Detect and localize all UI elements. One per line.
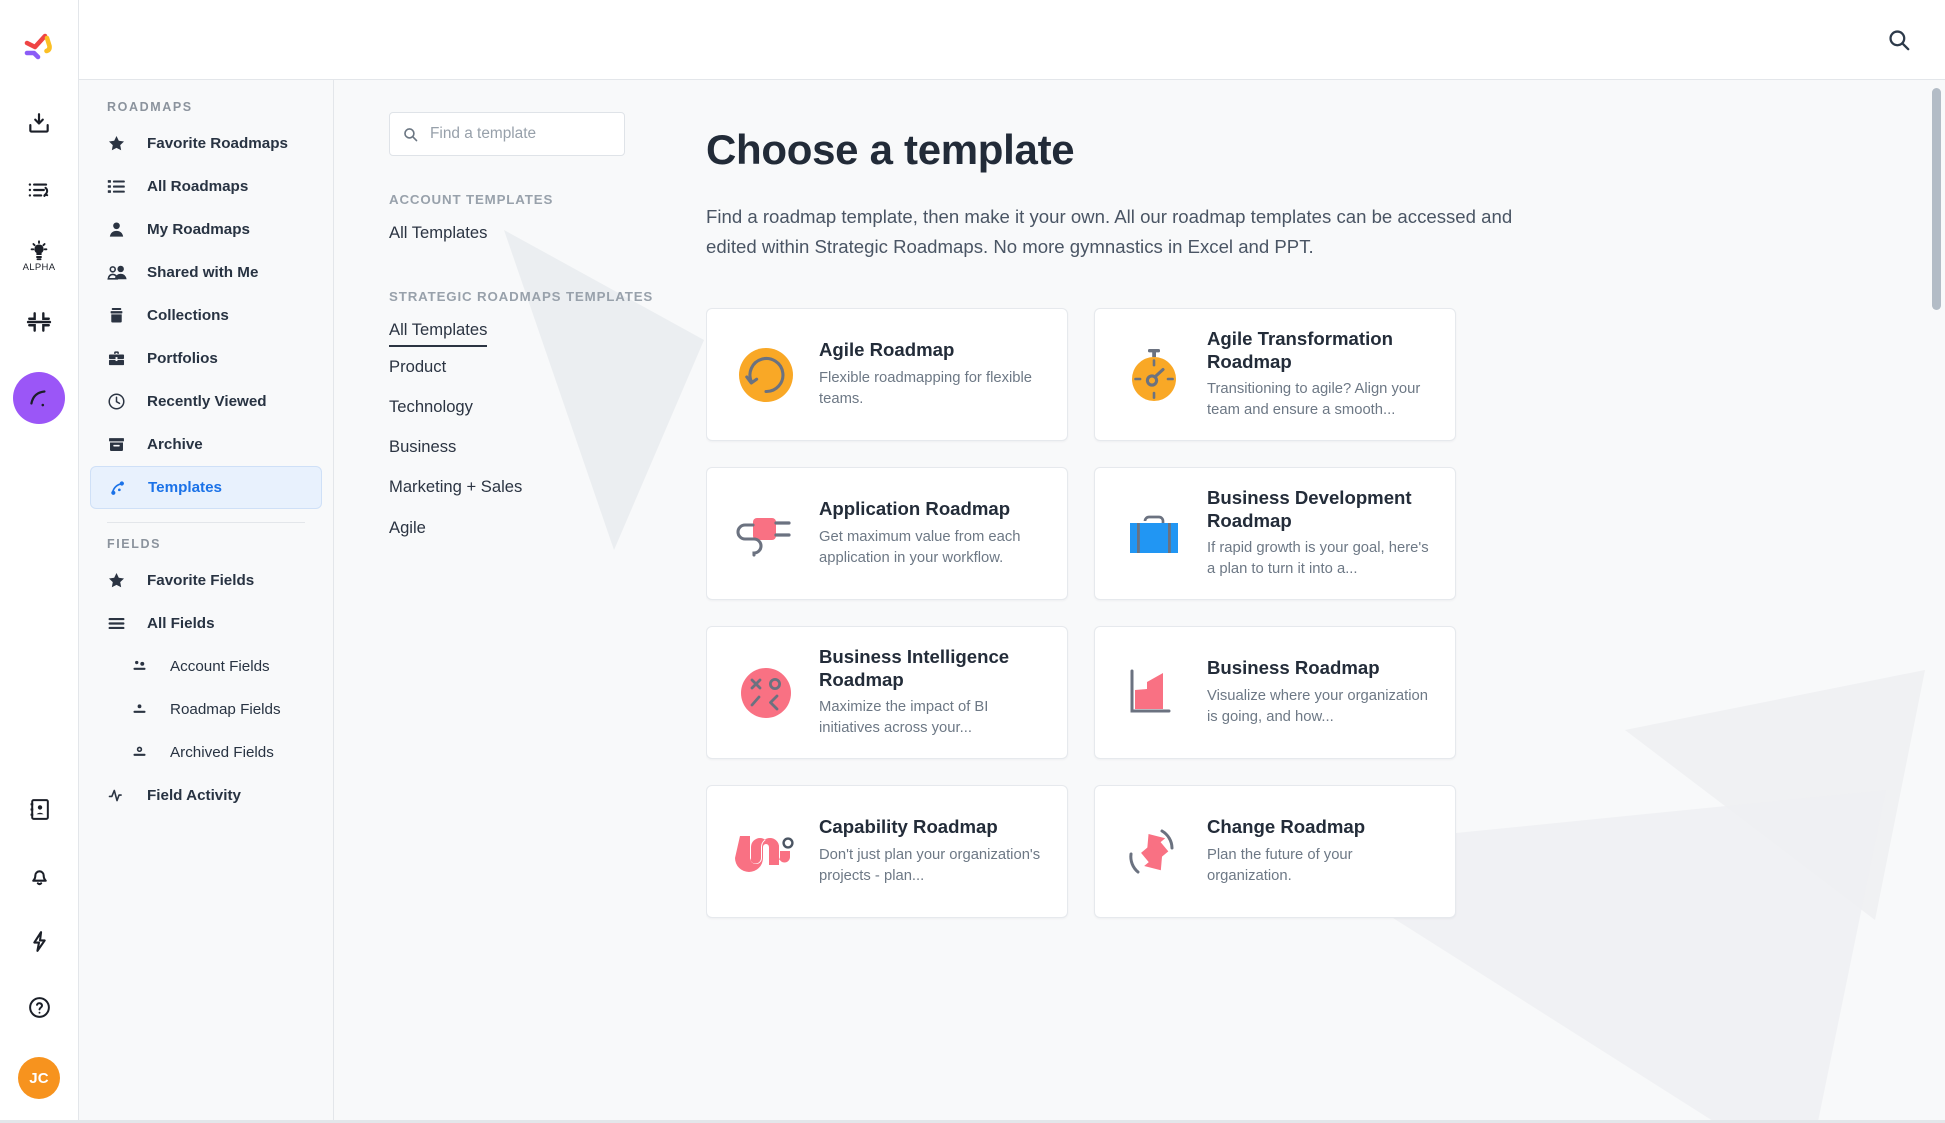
list-undo-icon[interactable] <box>11 162 67 218</box>
search-input[interactable] <box>430 125 612 143</box>
sidebar-item-label: My Roadmaps <box>147 221 250 238</box>
filter-item-business[interactable]: Business <box>389 427 456 467</box>
search-icon <box>402 126 419 143</box>
wave-capability-icon <box>723 815 809 889</box>
plug-icon <box>723 497 809 571</box>
filter-item-all-templates[interactable]: All Templates <box>389 310 487 346</box>
archived-fields-icon <box>130 743 158 762</box>
template-card-desc: Get maximum value from each application … <box>819 527 1049 569</box>
star-icon <box>107 134 135 153</box>
template-card-desc: Don't just plan your organization's proj… <box>819 845 1049 887</box>
sidebar-item-my-roadmaps[interactable]: My Roadmaps <box>90 208 322 251</box>
template-card-desc: If rapid growth is your goal, here's a p… <box>1207 538 1437 580</box>
inbox-icon[interactable] <box>11 96 67 152</box>
sidebar-nav: ROADMAPS Favorite Roadmaps All Roadmaps <box>79 80 334 1123</box>
vertical-scrollbar[interactable] <box>1932 88 1941 1119</box>
template-card-text: Business Roadmap Visualize where your or… <box>1197 657 1437 728</box>
filter-item-agile[interactable]: Agile <box>389 508 426 548</box>
sidebar-item-field-activity[interactable]: Field Activity <box>90 774 322 817</box>
filter-item-all-templates-account[interactable]: All Templates <box>389 213 487 253</box>
template-card-text: Business Intelligence Roadmap Maximize t… <box>809 646 1049 739</box>
template-card-desc: Maximize the impact of BI initiatives ac… <box>819 697 1049 739</box>
briefcase-icon <box>107 349 135 368</box>
sidebar-item-label: Roadmap Fields <box>170 701 281 718</box>
sidebar-item-templates[interactable]: Templates <box>90 466 322 509</box>
app-logo-icon[interactable] <box>17 26 61 70</box>
sidebar-item-label: Field Activity <box>147 787 241 804</box>
roadmaps-active-icon[interactable] <box>13 372 65 424</box>
template-card-text: Business Development Roadmap If rapid gr… <box>1197 487 1437 580</box>
sidebar-item-label: Portfolios <box>147 350 218 367</box>
sidebar-item-label: Shared with Me <box>147 264 258 281</box>
template-card-title: Agile Transformation Roadmap <box>1207 328 1437 373</box>
template-card[interactable]: Application Roadmap Get maximum value fr… <box>706 467 1068 600</box>
people-icon <box>107 263 135 282</box>
sidebar-item-collections[interactable]: Collections <box>90 294 322 337</box>
filter-item-product[interactable]: Product <box>389 347 446 387</box>
collapse-icon[interactable] <box>11 294 67 350</box>
template-card[interactable]: Agile Roadmap Flexible roadmapping for f… <box>706 308 1068 441</box>
template-card-title: Application Roadmap <box>819 498 1049 521</box>
template-card-text: Application Roadmap Get maximum value fr… <box>809 498 1049 569</box>
bell-icon[interactable] <box>11 847 67 903</box>
top-bar <box>79 0 1945 80</box>
app-root: ALPHA <box>0 0 1945 1123</box>
template-card-title: Business Roadmap <box>1207 657 1437 680</box>
template-card-desc: Visualize where your organization is goi… <box>1207 686 1437 728</box>
template-card[interactable]: Capability Roadmap Don't just plan your … <box>706 785 1068 918</box>
sidebar-item-shared-with-me[interactable]: Shared with Me <box>90 251 322 294</box>
sidebar-item-label: Recently Viewed <box>147 393 267 410</box>
sidebar-item-archived-fields[interactable]: Archived Fields <box>90 731 322 774</box>
filter-item-marketing-sales[interactable]: Marketing + Sales <box>389 467 522 507</box>
sidebar-group-label-fields: FIELDS <box>79 523 333 559</box>
template-card[interactable]: Business Intelligence Roadmap Maximize t… <box>706 626 1068 759</box>
archive-icon <box>107 435 135 454</box>
filter-list-account: All Templates <box>389 213 706 253</box>
sidebar-item-label: Account Fields <box>170 658 270 675</box>
sidebar-item-label: Archived Fields <box>170 744 274 761</box>
avatar[interactable]: JC <box>18 1057 60 1099</box>
filter-group-label-strategic: STRATEGIC ROADMAPS TEMPLATES <box>389 289 706 304</box>
template-card-desc: Transitioning to agile? Align your team … <box>1207 379 1437 421</box>
content-inner: Choose a template Find a roadmap templat… <box>706 126 1945 918</box>
list-icon <box>107 177 135 196</box>
template-card-title: Capability Roadmap <box>819 816 1049 839</box>
help-icon[interactable] <box>11 979 67 1035</box>
area-chart-icon <box>1111 656 1197 730</box>
filter-group-label-account: ACCOUNT TEMPLATES <box>389 192 706 207</box>
template-card-title: Business Intelligence Roadmap <box>819 646 1049 691</box>
template-card-text: Change Roadmap Plan the future of your o… <box>1197 816 1437 887</box>
content-panel: Choose a template Find a roadmap templat… <box>706 80 1945 1123</box>
page-title: Choose a template <box>706 126 1945 174</box>
sidebar-group-label-roadmaps: ROADMAPS <box>79 86 333 122</box>
scrollbar-thumb[interactable] <box>1932 88 1941 310</box>
star-icon <box>107 571 135 590</box>
filter-item-technology[interactable]: Technology <box>389 387 473 427</box>
lightbulb-icon[interactable]: ALPHA <box>11 228 67 284</box>
template-card-title: Business Development Roadmap <box>1207 487 1437 532</box>
sidebar-item-label: All Roadmaps <box>147 178 248 195</box>
briefcase-blue-icon <box>1111 497 1197 571</box>
hamburger-icon <box>107 614 135 633</box>
template-search-box[interactable] <box>389 112 625 156</box>
template-card-text: Agile Roadmap Flexible roadmapping for f… <box>809 339 1049 410</box>
sidebar-item-label: Archive <box>147 436 203 453</box>
page-description: Find a roadmap template, then make it yo… <box>706 202 1516 262</box>
template-card-text: Agile Transformation Roadmap Transitioni… <box>1197 328 1437 421</box>
person-icon <box>107 220 135 239</box>
sidebar-item-label: Favorite Fields <box>147 572 254 589</box>
sidebar-item-roadmap-fields[interactable]: Roadmap Fields <box>90 688 322 731</box>
sidebar-item-portfolios[interactable]: Portfolios <box>90 337 322 380</box>
sidebar-item-label: All Fields <box>147 615 215 632</box>
sidebar-item-label: Templates <box>148 479 222 496</box>
sidebar-item-favorite-fields[interactable]: Favorite Fields <box>90 559 322 602</box>
contacts-icon[interactable] <box>11 781 67 837</box>
alpha-tag: ALPHA <box>23 262 56 273</box>
template-card[interactable]: Business Roadmap Visualize where your or… <box>1094 626 1456 759</box>
roadmap-fields-icon <box>130 700 158 719</box>
template-card[interactable]: Business Development Roadmap If rapid gr… <box>1094 467 1456 600</box>
sidebar-item-label: Favorite Roadmaps <box>147 135 288 152</box>
search-icon[interactable] <box>1877 18 1921 62</box>
cycle-arrows-icon <box>1111 815 1197 889</box>
template-card[interactable]: Change Roadmap Plan the future of your o… <box>1094 785 1456 918</box>
account-fields-icon <box>130 657 158 676</box>
template-card-desc: Plan the future of your organization. <box>1207 845 1437 887</box>
activity-icon <box>107 786 135 805</box>
filter-list-strategic: All Templates Product Technology Busines… <box>389 310 706 548</box>
sidebar-item-account-fields[interactable]: Account Fields <box>90 645 322 688</box>
template-card-desc: Flexible roadmapping for flexible teams. <box>819 368 1049 410</box>
template-card-text: Capability Roadmap Don't just plan your … <box>809 816 1049 887</box>
template-card[interactable]: Agile Transformation Roadmap Transitioni… <box>1094 308 1456 441</box>
sidebar-item-archive[interactable]: Archive <box>90 423 322 466</box>
sidebar-item-favorite-roadmaps[interactable]: Favorite Roadmaps <box>90 122 322 165</box>
icon-rail: ALPHA <box>0 0 79 1123</box>
sidebar-item-recently-viewed[interactable]: Recently Viewed <box>90 380 322 423</box>
agile-circular-arrow-icon <box>723 338 809 412</box>
stopwatch-icon <box>1111 338 1197 412</box>
template-card-title: Agile Roadmap <box>819 339 1049 362</box>
bi-symbols-circle-icon <box>723 656 809 730</box>
templates-icon <box>108 478 136 498</box>
main-region: ROADMAPS Favorite Roadmaps All Roadmaps <box>79 80 1945 1123</box>
bolt-icon[interactable] <box>11 913 67 969</box>
rail-bottom-group: JC <box>11 781 67 1123</box>
clock-icon <box>107 392 135 411</box>
sidebar-item-all-fields[interactable]: All Fields <box>90 602 322 645</box>
template-card-title: Change Roadmap <box>1207 816 1437 839</box>
sidebar-item-label: Collections <box>147 307 229 324</box>
template-card-grid: Agile Roadmap Flexible roadmapping for f… <box>706 308 1945 918</box>
collections-icon <box>107 306 135 325</box>
template-filter-column: ACCOUNT TEMPLATES All Templates STRATEGI… <box>334 80 706 1123</box>
sidebar-item-all-roadmaps[interactable]: All Roadmaps <box>90 165 322 208</box>
